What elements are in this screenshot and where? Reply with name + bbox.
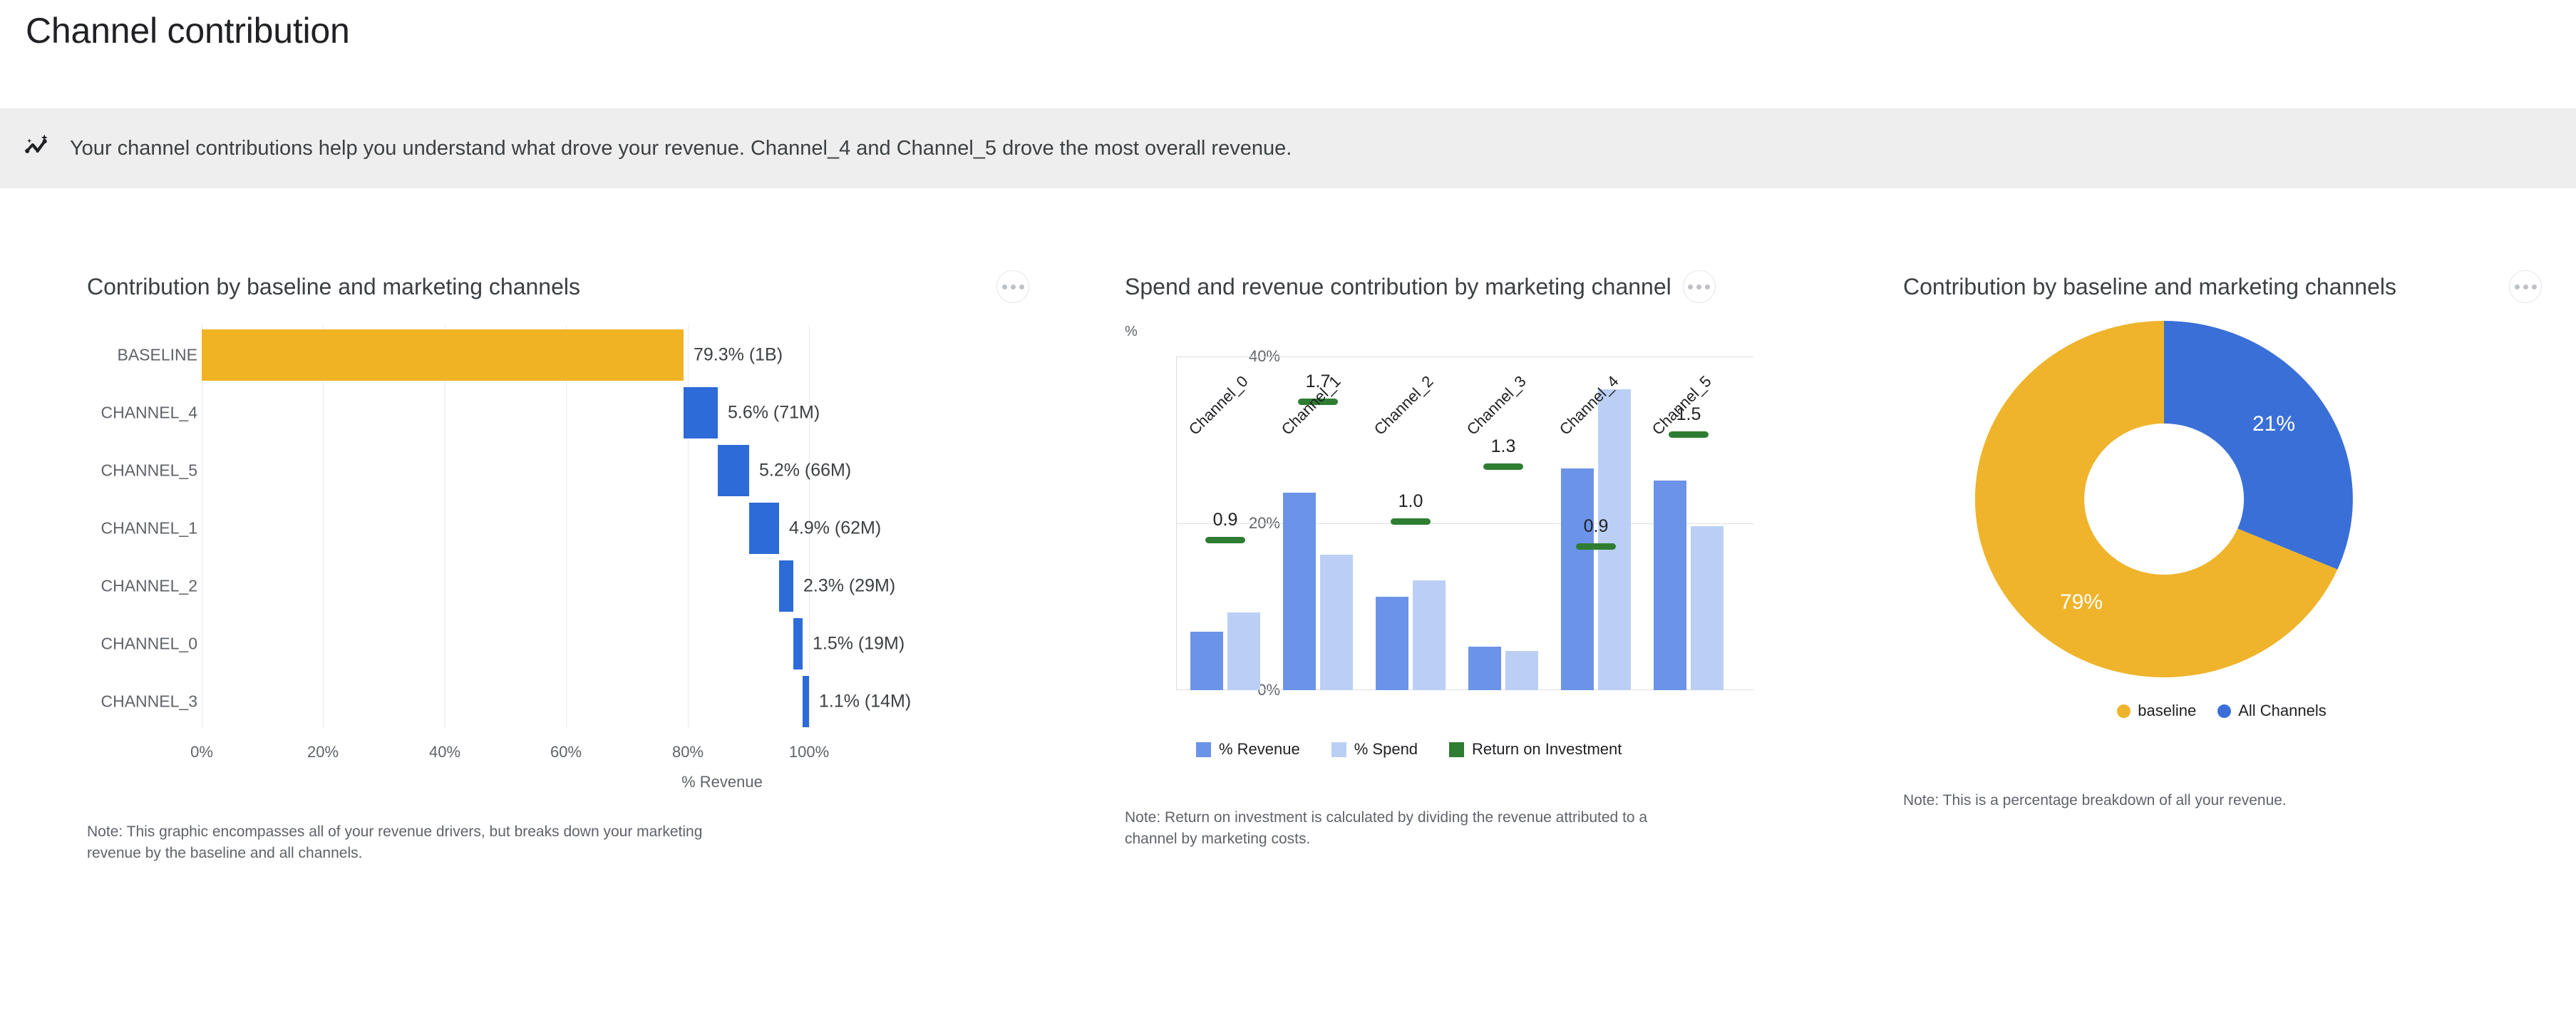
waterfall-row-label: CHANNEL_3 [101, 692, 198, 712]
roi-label-channel-0: 0.9 [1213, 510, 1238, 530]
waterfall-x-axis-label: % Revenue [681, 773, 763, 791]
legend-label: All Channels [2238, 702, 2327, 720]
legend-swatch-icon [1331, 742, 1346, 757]
page-title: Channel contribution [26, 10, 350, 51]
donut-svg [1975, 321, 2353, 677]
card-donut-header: Contribution by baseline and marketing c… [1867, 267, 2576, 307]
bar-revenue-channel-4[interactable] [1561, 468, 1594, 690]
waterfall-row-label: BASELINE [118, 346, 198, 365]
dot-icon [1019, 284, 1024, 289]
more-options-button-spend-revenue[interactable] [1683, 270, 1716, 303]
legend-swatch-icon [1449, 742, 1464, 757]
insight-banner: Your channel contributions help you unde… [0, 108, 2576, 188]
bar-revenue-channel-1[interactable] [1283, 493, 1316, 690]
insight-text: Your channel contributions help you unde… [70, 137, 1292, 160]
roi-label-channel-3: 1.3 [1491, 436, 1516, 457]
gridline [566, 325, 567, 729]
roi-label-channel-2: 1.0 [1398, 491, 1423, 512]
waterfall-row-label: CHANNEL_2 [101, 577, 198, 596]
grouped-bar-legend: % Revenue % Spend Return on Investment [1196, 740, 1622, 759]
waterfall-value-label: 5.6% (71M) [728, 403, 820, 424]
grouped-bar-x-label: Channel_5 [1649, 372, 1716, 439]
waterfall-chart: BASELINE CHANNEL_4 CHANNEL_5 CHANNEL_1 C… [0, 315, 1091, 743]
card-spend-revenue: Spend and revenue contribution by market… [1091, 188, 1867, 1021]
dot-icon [2523, 284, 2528, 289]
waterfall-value-label: 1.5% (19M) [813, 634, 905, 655]
waterfall-value-label: 2.3% (29M) [803, 576, 895, 597]
waterfall-row-label: CHANNEL_1 [101, 519, 198, 538]
dot-icon [1002, 284, 1007, 289]
waterfall-bar-channel-3[interactable] [803, 676, 809, 727]
bar-spend-channel-3[interactable] [1505, 651, 1538, 690]
card-waterfall-header: Contribution by baseline and marketing c… [0, 267, 1091, 307]
waterfall-row-label: CHANNEL_0 [101, 635, 198, 654]
roi-marker-channel-3[interactable] [1483, 463, 1523, 470]
waterfall-row-label: CHANNEL_5 [101, 461, 198, 481]
waterfall-plot-area: 79.3% (1B) 5.6% (71M) 5.2% (66M) 4.9% (6… [202, 325, 840, 729]
waterfall-x-tick: 20% [307, 743, 339, 761]
dot-icon [1705, 284, 1710, 289]
bar-revenue-channel-0[interactable] [1190, 632, 1223, 690]
bar-spend-channel-5[interactable] [1691, 526, 1724, 690]
roi-marker-channel-2[interactable] [1391, 518, 1431, 525]
card-spend-revenue-header: Spend and revenue contribution by market… [1091, 267, 1867, 307]
grouped-bar-plot-area: 0.9 1.7 1.0 1.3 0.9 1.5 Channel_0 Channe… [1176, 356, 1753, 690]
dot-icon [2532, 284, 2537, 289]
waterfall-bar-channel-0[interactable] [793, 618, 803, 669]
spend-revenue-note: Note: Return on investment is calculated… [1125, 807, 1652, 851]
waterfall-x-tick: 40% [429, 743, 460, 761]
legend-item-revenue[interactable]: % Revenue [1196, 740, 1300, 759]
bar-revenue-channel-3[interactable] [1468, 647, 1501, 690]
roi-marker-channel-4[interactable] [1576, 543, 1616, 550]
legend-label: Return on Investment [1472, 740, 1622, 759]
legend-label: baseline [2138, 702, 2196, 720]
card-spend-revenue-title: Spend and revenue contribution by market… [1125, 274, 1671, 300]
legend-item-all-channels[interactable]: All Channels [2217, 702, 2327, 720]
grouped-bar-x-label: Channel_0 [1185, 372, 1252, 439]
bar-spend-channel-0[interactable] [1227, 612, 1260, 690]
waterfall-x-tick: 80% [672, 743, 704, 761]
grouped-bar-unit-label: % [1125, 324, 1138, 340]
legend-item-spend[interactable]: % Spend [1331, 740, 1418, 759]
legend-dot-icon [2117, 704, 2131, 718]
waterfall-x-tick: 100% [789, 743, 829, 761]
donut-label-baseline: 79% [2060, 590, 2103, 615]
waterfall-value-label: 5.2% (66M) [759, 461, 851, 481]
dot-icon [1688, 284, 1693, 289]
roi-marker-channel-5[interactable] [1669, 431, 1709, 438]
bar-revenue-channel-2[interactable] [1376, 597, 1408, 690]
bar-spend-channel-1[interactable] [1320, 555, 1353, 690]
waterfall-bar-channel-5[interactable] [718, 445, 749, 496]
card-donut-title: Contribution by baseline and marketing c… [1903, 274, 2396, 300]
legend-swatch-icon [1196, 742, 1211, 757]
donut-legend: baseline All Channels [1867, 702, 2576, 720]
roi-marker-channel-0[interactable] [1205, 537, 1245, 543]
gridline [1176, 356, 1753, 357]
donut-note: Note: This is a percentage breakdown of … [1903, 790, 2545, 811]
legend-label: % Spend [1354, 740, 1418, 759]
waterfall-value-label: 4.9% (62M) [789, 518, 881, 539]
card-donut: Contribution by baseline and marketing c… [1867, 188, 2576, 1021]
dot-icon [1696, 284, 1701, 289]
waterfall-value-label: 79.3% (1B) [694, 345, 783, 366]
bar-spend-channel-4[interactable] [1598, 389, 1631, 690]
grouped-bar-chart: % 40% 20% 0% [1091, 315, 1867, 771]
gridline [202, 325, 202, 729]
waterfall-bar-channel-2[interactable] [779, 560, 793, 612]
more-options-button-donut[interactable] [2509, 270, 2542, 303]
legend-item-baseline[interactable]: baseline [2117, 702, 2196, 720]
donut-slice-all-channels[interactable] [2164, 321, 2353, 570]
dot-icon [2515, 284, 2520, 289]
legend-label: % Revenue [1219, 740, 1300, 759]
roi-label-channel-4: 0.9 [1584, 516, 1609, 537]
waterfall-bar-channel-4[interactable] [684, 387, 718, 438]
waterfall-x-tick: 60% [550, 743, 582, 761]
card-waterfall: Contribution by baseline and marketing c… [0, 188, 1091, 1021]
legend-dot-icon [2217, 704, 2231, 718]
charts-row: Contribution by baseline and marketing c… [0, 188, 2576, 1021]
donut-label-all-channels: 21% [2252, 412, 2295, 436]
legend-item-roi[interactable]: Return on Investment [1449, 740, 1622, 759]
dot-icon [1011, 284, 1016, 289]
waterfall-note: Note: This graphic encompasses all of yo… [87, 821, 714, 865]
waterfall-bar-baseline[interactable] [202, 329, 684, 381]
waterfall-value-label: 1.1% (14M) [819, 692, 911, 712]
waterfall-bar-channel-1[interactable] [749, 503, 779, 554]
gridline [688, 325, 689, 729]
donut-chart: 21% 79% baseline All Channels [1867, 321, 2576, 749]
bar-spend-channel-2[interactable] [1413, 580, 1446, 690]
gridline [323, 325, 324, 729]
grouped-bar-x-label: Channel_3 [1463, 372, 1530, 439]
insights-sparkle-icon [16, 126, 60, 170]
bar-revenue-channel-5[interactable] [1654, 481, 1686, 690]
gridline [445, 325, 445, 729]
card-waterfall-title: Contribution by baseline and marketing c… [87, 274, 580, 300]
waterfall-x-tick: 0% [190, 743, 213, 761]
grouped-bar-x-label: Channel_2 [1371, 372, 1438, 439]
waterfall-row-label: CHANNEL_4 [101, 404, 198, 423]
more-options-button-waterfall[interactable] [996, 270, 1029, 303]
